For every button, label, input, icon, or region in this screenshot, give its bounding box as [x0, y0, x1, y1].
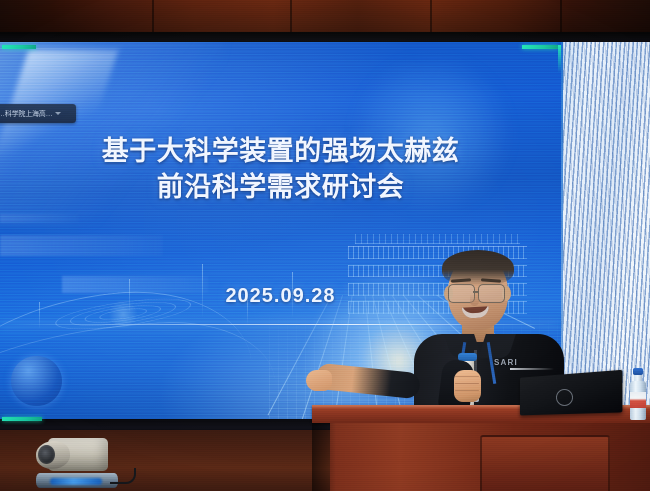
- slide-title-line-1: 基于大科学装置的强场太赫兹: [0, 134, 561, 170]
- podium-front-panel: [480, 435, 610, 491]
- shirt-logo: SARI: [494, 358, 518, 367]
- presentation-file-label: …科学院上海高…: [0, 109, 52, 119]
- water-bottle[interactable]: [630, 368, 646, 420]
- conference-room-scene: 基于大科学装置的强场太赫兹 前沿科学需求研讨会 2025.09.28 …科学院上…: [0, 0, 650, 491]
- bottle-label: [630, 392, 646, 408]
- laptop-device[interactable]: [516, 374, 626, 418]
- ptz-conference-camera[interactable]: [30, 432, 125, 488]
- accent-mark-bottom-left: [2, 417, 42, 421]
- speaker-right-hand: [454, 370, 481, 402]
- camera-cable: [110, 468, 136, 484]
- accent-mark-top-left: [2, 45, 36, 49]
- slide-band: [0, 214, 79, 222]
- laptop-logo-icon: [556, 389, 573, 406]
- eyeglasses-icon: [478, 284, 505, 303]
- slide-title-line-2: 前沿科学需求研讨会: [0, 170, 561, 206]
- chevron-down-icon[interactable]: [55, 112, 61, 115]
- speaker-nose: [470, 294, 479, 306]
- laptop-screen-edge: [510, 368, 554, 370]
- camera-status-light: [50, 478, 102, 485]
- accent-mark-right-vertical: [558, 45, 561, 73]
- slide-title-block: 基于大科学装置的强场太赫兹 前沿科学需求研讨会: [0, 134, 561, 205]
- speaker-left-hand: [306, 370, 332, 391]
- eyeglasses-bridge: [473, 291, 478, 293]
- bottle-cap: [633, 368, 643, 375]
- accent-mark-top-right: [522, 45, 558, 49]
- camera-lens-icon: [38, 445, 55, 464]
- podium-shadow: [312, 423, 336, 491]
- presentation-file-chip[interactable]: …科学院上海高…: [0, 104, 76, 123]
